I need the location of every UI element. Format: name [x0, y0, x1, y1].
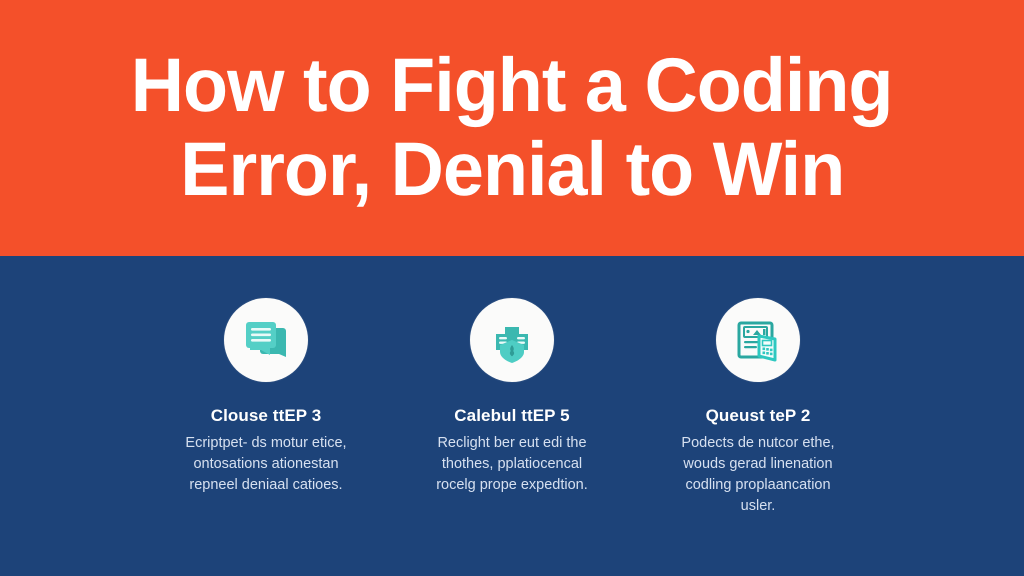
card-1-body: Ecriptpet- ds motur etice, ontosations a…: [159, 433, 374, 496]
card-2: Calebul ttEP 5 Reclight ber eut edi the …: [389, 298, 635, 496]
card-1-body-line: repneel deniaal catioes.: [159, 475, 374, 496]
medical-cross-shield-icon: [486, 314, 538, 366]
document-calculator-icon: [732, 314, 784, 366]
chat-bubbles-icon: [240, 314, 292, 366]
icon-badge-3: [716, 298, 800, 382]
card-3-body-line: usler.: [651, 496, 866, 517]
card-3-title: Queust teP 2: [706, 406, 811, 426]
page-title-line-1: How to Fight a Coding: [131, 44, 893, 128]
card-2-title: Calebul ttEP 5: [454, 406, 569, 426]
card-3-body-line: codling proplaancation: [651, 475, 866, 496]
card-1-body-line: Ecriptpet- ds motur etice,: [159, 433, 374, 454]
card-row: Clouse ttEP 3 Ecriptpet- ds motur etice,…: [0, 256, 1024, 576]
card-2-body-line: Reclight ber eut edi the: [405, 433, 620, 454]
card-1-body-line: ontosations ationestan: [159, 454, 374, 475]
body-band: Clouse ttEP 3 Ecriptpet- ds motur etice,…: [0, 256, 1024, 576]
card-2-body-line: thothes, pplatiocencal: [405, 454, 620, 475]
card-3-body-line: wouds gerad linenation: [651, 454, 866, 475]
card-2-body: Reclight ber eut edi the thothes, pplati…: [405, 433, 620, 496]
card-1-title: Clouse ttEP 3: [211, 406, 322, 426]
header-band: How to Fight a Coding Error, Denial to W…: [0, 0, 1024, 256]
icon-badge-2: [470, 298, 554, 382]
icon-badge-1: [224, 298, 308, 382]
card-3-body: Podects de nutcor ethe, wouds gerad line…: [651, 433, 866, 517]
card-3: Queust teP 2 Podects de nutcor ethe, wou…: [635, 298, 881, 517]
page-title-line-2: Error, Denial to Win: [180, 128, 844, 212]
card-1: Clouse ttEP 3 Ecriptpet- ds motur etice,…: [143, 298, 389, 496]
card-2-body-line: rocelg prope expedtion.: [405, 475, 620, 496]
infographic-poster: How to Fight a Coding Error, Denial to W…: [0, 0, 1024, 576]
card-3-body-line: Podects de nutcor ethe,: [651, 433, 866, 454]
